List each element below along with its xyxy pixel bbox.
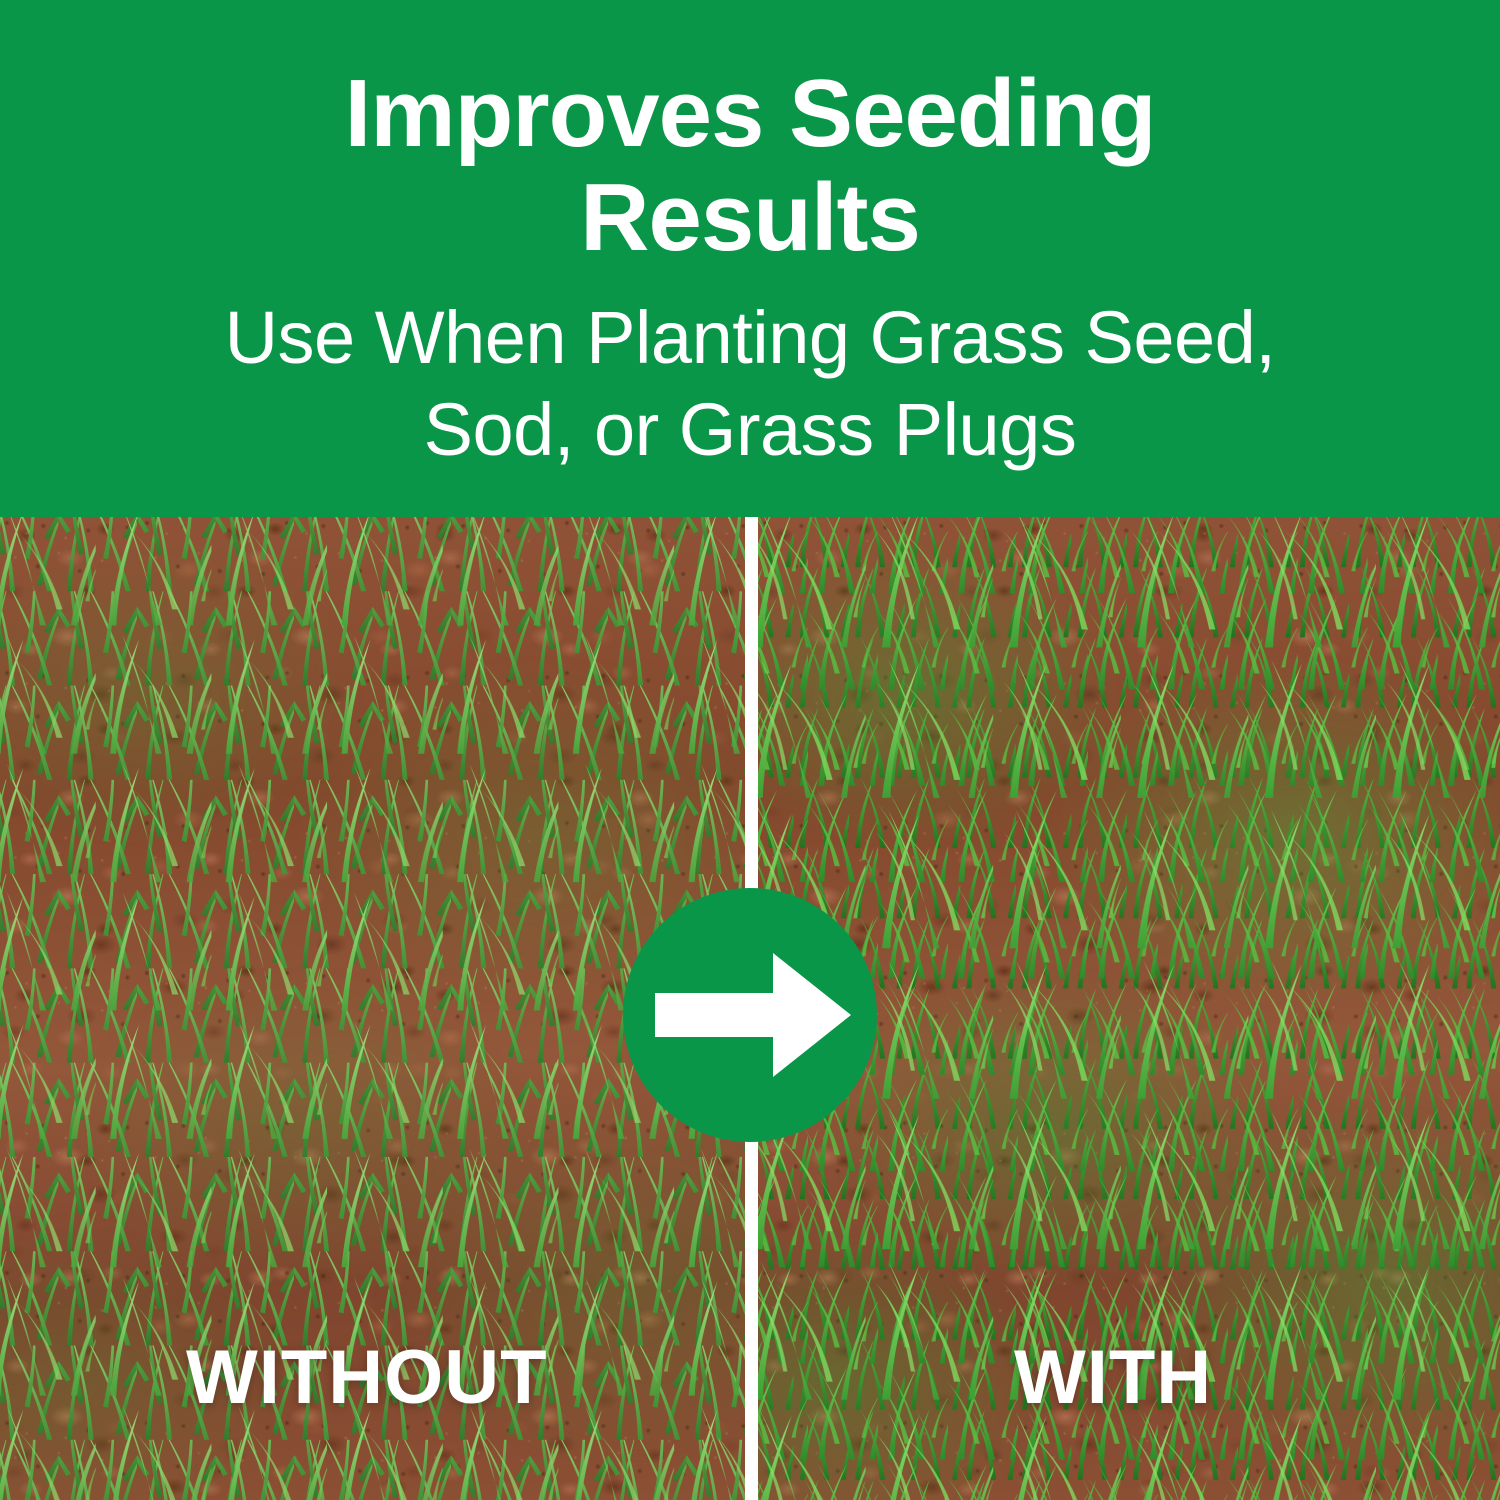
headline-line-2: Results: [130, 166, 1370, 270]
arrow-right-icon: [623, 888, 877, 1142]
caption-with: WITH: [1014, 1340, 1212, 1416]
caption-without: WITHOUT: [186, 1340, 548, 1416]
subhead-line-2: Sod, or Grass Plugs: [75, 384, 1425, 476]
page-subtitle: Use When Planting Grass Seed, Sod, or Gr…: [75, 270, 1425, 476]
page-title: Improves Seeding Results: [130, 62, 1370, 270]
headline-line-1: Improves Seeding: [130, 62, 1370, 166]
product-comparison-poster: Improves Seeding Results Use When Planti…: [0, 0, 1500, 1500]
subhead-line-1: Use When Planting Grass Seed,: [75, 292, 1425, 384]
header-banner: Improves Seeding Results Use When Planti…: [0, 0, 1500, 517]
